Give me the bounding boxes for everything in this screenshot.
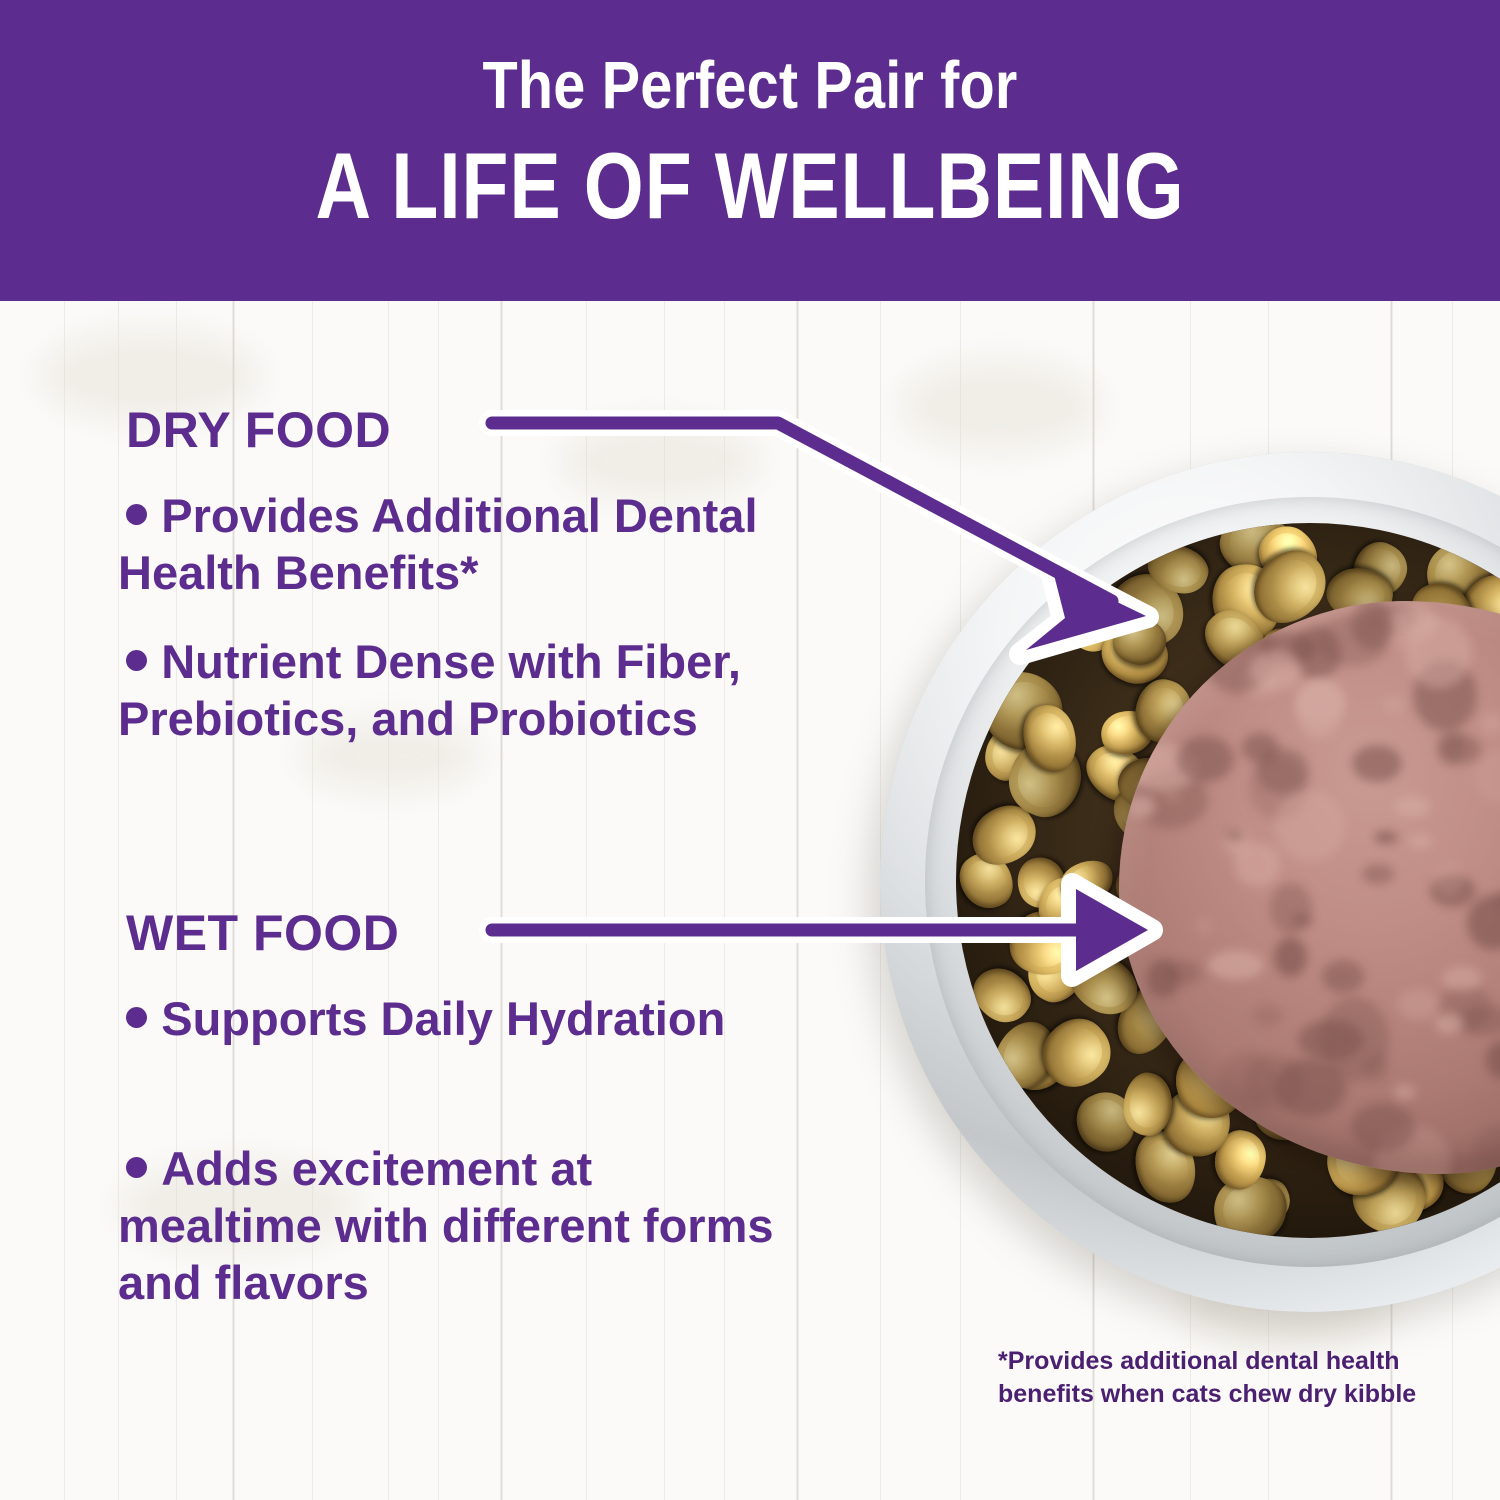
pate-texture bbox=[1257, 748, 1309, 793]
pate-texture bbox=[1274, 937, 1306, 977]
pate-texture bbox=[1475, 1124, 1500, 1171]
pate-texture bbox=[1474, 751, 1500, 803]
bullet-wet-2-text: Adds excitement at mealtime with differe… bbox=[118, 1142, 774, 1309]
pate-texture bbox=[1397, 989, 1440, 1021]
section-heading-dry-food: DRY FOOD bbox=[126, 401, 391, 459]
promotional-infographic: The Perfect Pair for A LIFE OF WELLBEING… bbox=[0, 0, 1500, 1500]
pate-texture bbox=[1364, 1053, 1389, 1082]
pate-texture bbox=[1351, 1103, 1415, 1152]
pate-texture bbox=[1352, 745, 1401, 783]
pate-texture bbox=[1298, 1020, 1364, 1060]
bullet-dot-icon bbox=[126, 650, 148, 672]
header-banner: The Perfect Pair for A LIFE OF WELLBEING bbox=[0, 0, 1500, 301]
bullet-wet-2: Adds excitement at mealtime with differe… bbox=[118, 1141, 798, 1312]
bullet-dot-icon bbox=[126, 1007, 148, 1029]
bullet-dry-2-text: Nutrient Dense with Fiber, Prebiotics, a… bbox=[118, 635, 741, 745]
pate-texture bbox=[1274, 790, 1345, 863]
header-subtitle: The Perfect Pair for bbox=[105, 52, 1395, 119]
pate-texture bbox=[1316, 615, 1389, 666]
pate-texture bbox=[1228, 619, 1276, 647]
pate-texture bbox=[1362, 864, 1394, 884]
pate-texture bbox=[1405, 617, 1472, 689]
pate-texture bbox=[1486, 1041, 1500, 1079]
pate-texture bbox=[1440, 734, 1481, 764]
pate-texture bbox=[1128, 795, 1155, 819]
pate-texture bbox=[1296, 678, 1346, 723]
bullet-dot-icon bbox=[126, 504, 148, 526]
pate-texture bbox=[1435, 1013, 1464, 1034]
header-title: A LIFE OF WELLBEING bbox=[135, 139, 1365, 233]
pate-texture bbox=[1322, 960, 1365, 993]
pate-texture bbox=[1177, 736, 1234, 782]
pate-texture bbox=[1119, 912, 1130, 924]
benefits-column: DRY FOOD Provides Additional Dental Heal… bbox=[0, 301, 840, 1500]
pate-texture bbox=[1250, 650, 1301, 691]
pate-texture bbox=[1253, 1005, 1283, 1026]
bullet-dry-2: Nutrient Dense with Fiber, Prebiotics, a… bbox=[118, 634, 798, 748]
footnote-text: *Provides additional dental health benef… bbox=[998, 1345, 1468, 1410]
pate-texture bbox=[1224, 828, 1244, 841]
bullet-wet-1-text: Supports Daily Hydration bbox=[161, 992, 725, 1045]
pate-texture bbox=[1394, 796, 1430, 817]
bullet-dry-1: Provides Additional Dental Health Benefi… bbox=[118, 488, 798, 602]
pate-texture bbox=[1270, 883, 1312, 934]
pate-texture bbox=[1382, 695, 1405, 713]
pate-texture bbox=[1393, 1084, 1417, 1100]
pate-texture bbox=[1208, 950, 1264, 980]
pate-texture bbox=[1480, 713, 1500, 734]
pate-texture bbox=[1274, 1059, 1346, 1116]
pate-texture bbox=[1374, 831, 1398, 844]
bullet-dot-icon bbox=[126, 1157, 148, 1179]
pate-texture bbox=[1409, 834, 1433, 849]
pate-texture bbox=[1186, 1093, 1207, 1113]
pate-texture bbox=[1196, 917, 1212, 935]
pate-texture bbox=[1467, 895, 1500, 950]
bullet-dry-1-text: Provides Additional Dental Health Benefi… bbox=[118, 489, 758, 599]
pate-texture bbox=[1164, 961, 1201, 984]
bullet-wet-1: Supports Daily Hydration bbox=[118, 991, 798, 1048]
header-text-group: The Perfect Pair for A LIFE OF WELLBEING bbox=[0, 52, 1500, 233]
section-heading-wet-food: WET FOOD bbox=[126, 904, 399, 962]
